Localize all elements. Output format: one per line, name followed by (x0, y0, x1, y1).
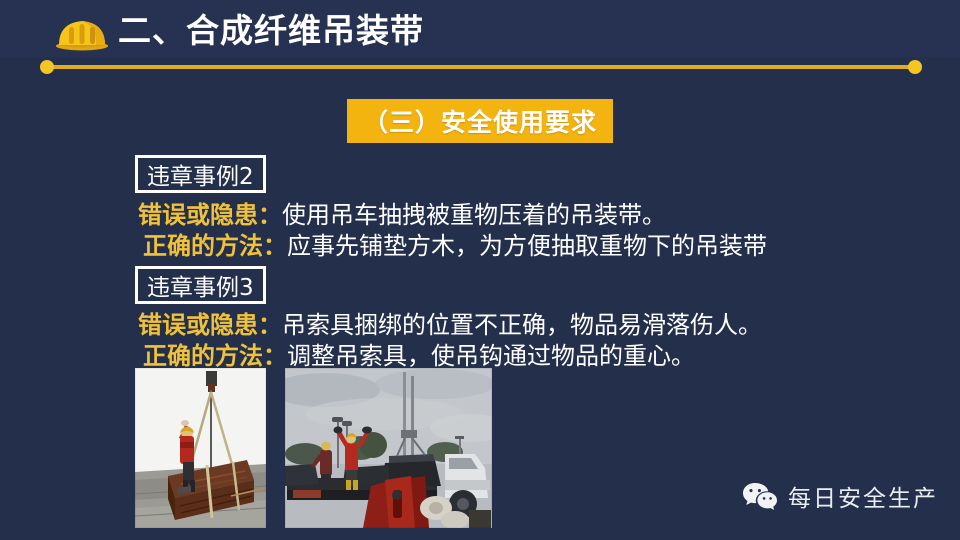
case-3-wrong-line: 错误或隐患：吊索具捆绑的位置不正确，物品易滑落伤人。 (138, 310, 762, 340)
case-3-right-label: 正确的方法： (143, 342, 287, 370)
case-3-wrong-label: 错误或隐患： (138, 311, 282, 339)
slide-root: 二、合成纤维吊装带 （三）安全使用要求 违章事例2 错误或隐患：使用吊车抽拽被重… (0, 0, 960, 540)
case-2-wrong-label: 错误或隐患： (138, 201, 282, 229)
page-title: 二、合成纤维吊装带 (118, 8, 424, 54)
case-3-wrong-text: 吊索具捆绑的位置不正确，物品易滑落伤人。 (282, 311, 762, 339)
case-2-right-label: 正确的方法： (143, 232, 287, 260)
case-tag-2-label: 违章事例2 (147, 157, 254, 191)
divider-dot-right (908, 60, 922, 74)
photo-worker-barge-steel-bundle (135, 368, 266, 528)
wechat-icon (742, 481, 778, 511)
case-2-right-text: 应事先铺垫方木，为方便抽取重物下的吊装带 (287, 232, 767, 260)
case-tag-3: 违章事例3 (135, 266, 266, 304)
case-2-right-line: 正确的方法：应事先铺垫方木，为方便抽取重物下的吊装带 (143, 231, 767, 261)
header-divider (0, 57, 960, 79)
case-tag-3-label: 违章事例3 (147, 268, 254, 302)
case-tag-2: 违章事例2 (135, 155, 266, 193)
hard-hat-icon (52, 13, 112, 53)
case-2-wrong-text: 使用吊车抽拽被重物压着的吊装带。 (282, 201, 666, 229)
watermark: 每日安全生产 (742, 478, 938, 514)
case-3-right-text: 调整吊索具，使吊钩通过物品的重心。 (287, 342, 695, 370)
case-2-wrong-line: 错误或隐患：使用吊车抽拽被重物压着的吊装带。 (138, 200, 666, 230)
divider-line (44, 65, 916, 69)
section-banner-label: （三）安全使用要求 (363, 103, 597, 139)
divider-dot-left (40, 60, 54, 74)
slide-header: 二、合成纤维吊装带 (0, 0, 960, 57)
watermark-text: 每日安全生产 (788, 479, 938, 513)
photo-workers-truck-crane (285, 368, 492, 528)
case-3-right-line: 正确的方法：调整吊索具，使吊钩通过物品的重心。 (143, 341, 695, 371)
section-banner: （三）安全使用要求 (347, 99, 613, 143)
